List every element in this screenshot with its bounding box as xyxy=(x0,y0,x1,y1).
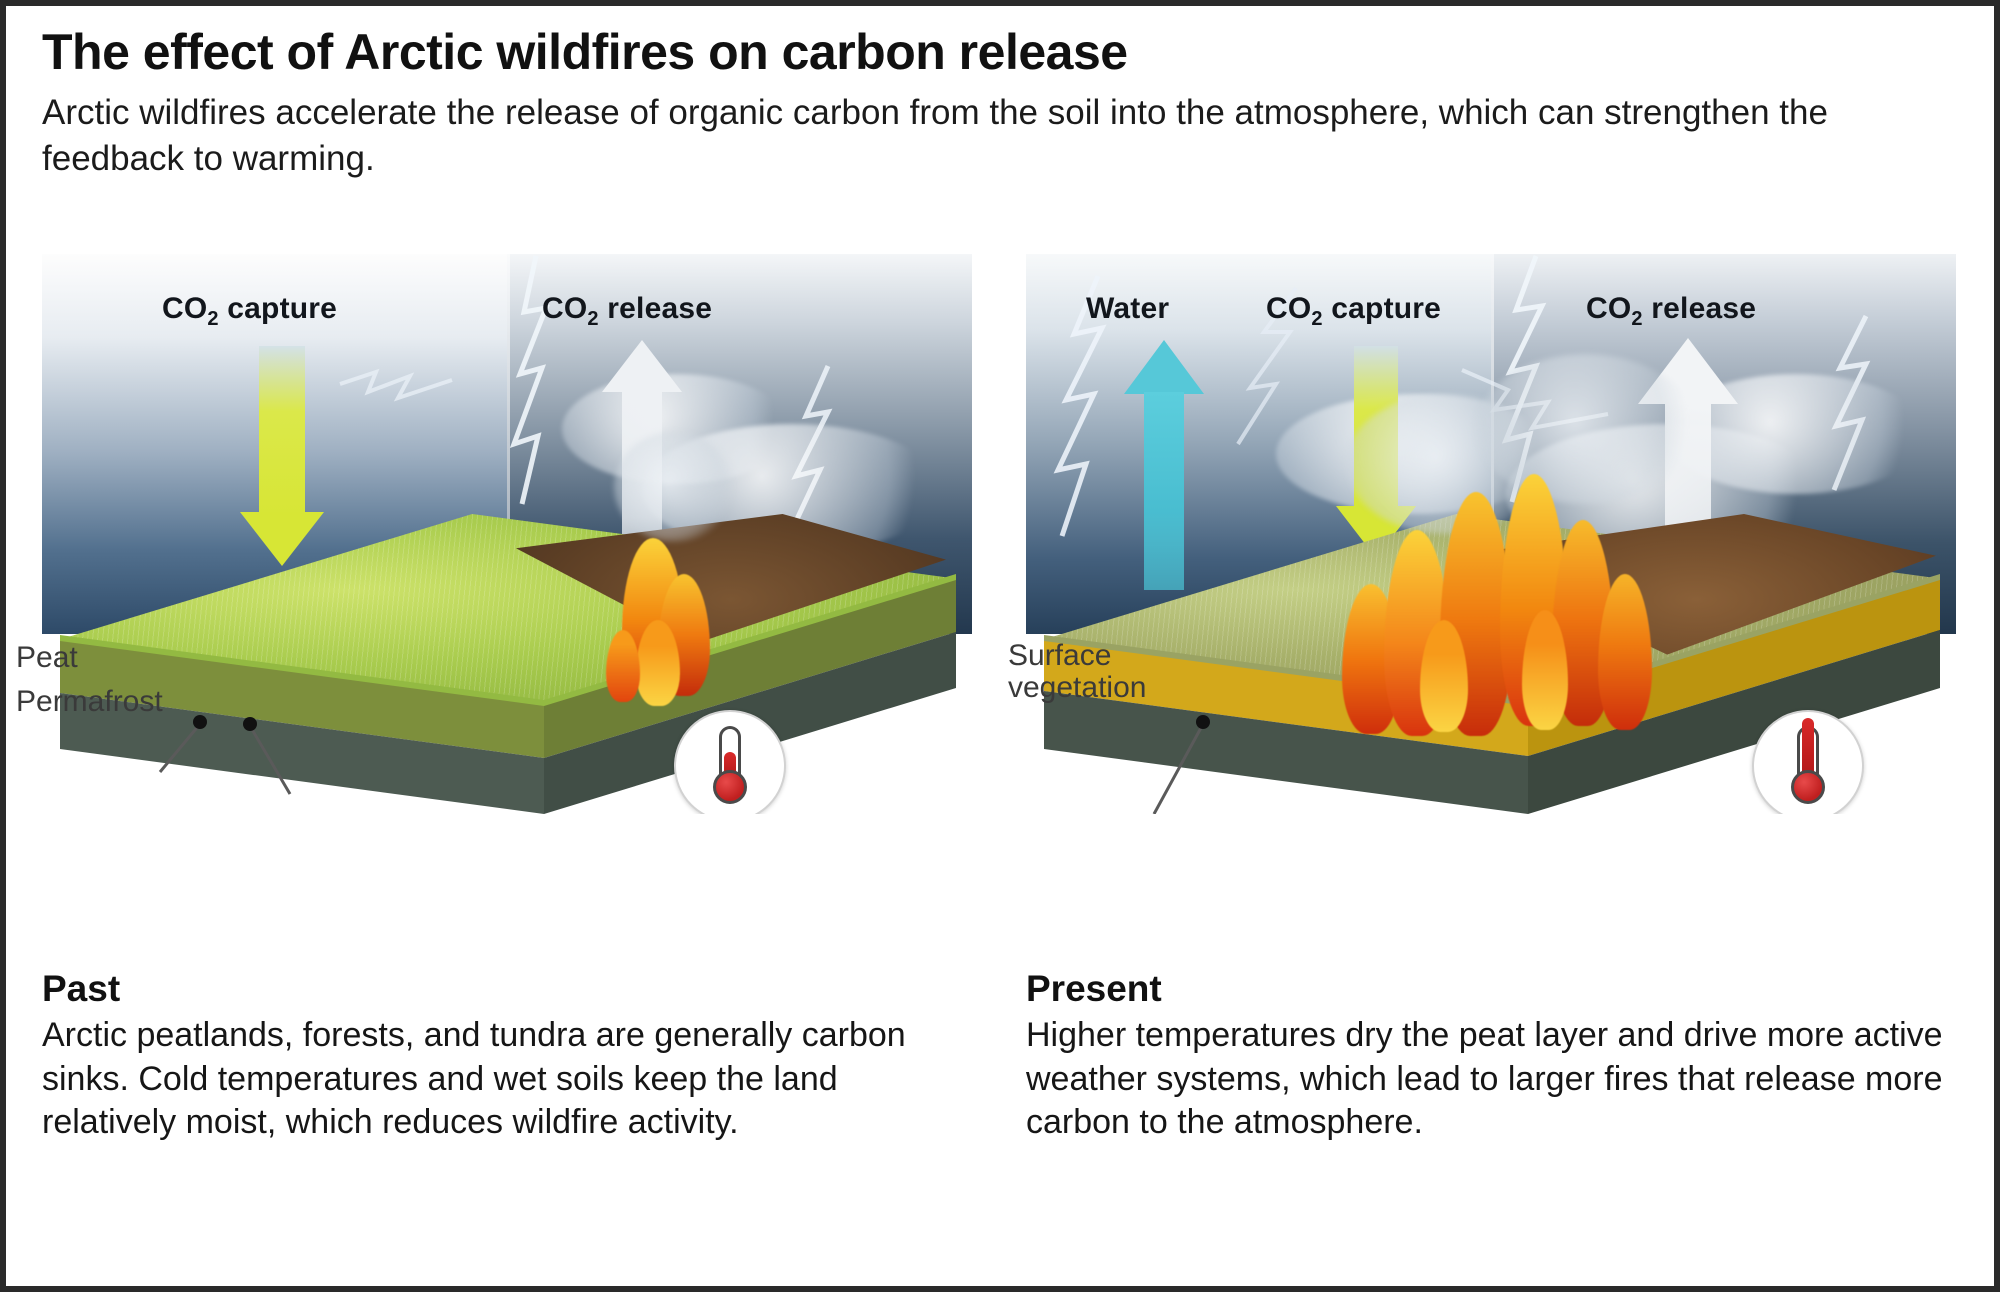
page-subtitle: Arctic wildfires accelerate the release … xyxy=(42,90,1972,182)
label-text: CO xyxy=(1586,292,1631,325)
label-text: CO xyxy=(1266,292,1311,325)
header: The effect of Arctic wildfires on carbon… xyxy=(42,24,1972,182)
label-co2-capture-present: CO2 capture xyxy=(1266,292,1441,331)
callout-dot-permafrost xyxy=(243,717,257,731)
caption-heading-present: Present xyxy=(1026,968,1956,1010)
callout-dot-peat xyxy=(193,715,207,729)
callout-peat-past: Peat xyxy=(16,642,78,674)
infographic-root: The effect of Arctic wildfires on carbon… xyxy=(0,0,2000,1292)
caption-past: Past Arctic peatlands, forests, and tund… xyxy=(42,968,972,1145)
callout-dot-surface-vegetation xyxy=(1196,715,1210,729)
ground-block-past xyxy=(42,514,972,814)
label-text-rest: capture xyxy=(1323,292,1441,325)
scene-present: Water CO2 capture CO2 release xyxy=(1026,254,1956,814)
scene-past: CO2 capture CO2 release xyxy=(42,254,972,814)
caption-body-present: Higher temperatures dry the peat layer a… xyxy=(1026,1014,1956,1145)
smoke xyxy=(1476,354,1696,504)
lightning-icon xyxy=(332,314,462,454)
label-co2-capture-past: CO2 capture xyxy=(162,292,337,331)
caption-heading-past: Past xyxy=(42,968,972,1010)
caption-present: Present Higher temperatures dry the peat… xyxy=(1026,968,1956,1145)
label-subscript: 2 xyxy=(1311,308,1322,330)
label-subscript: 2 xyxy=(1631,308,1642,330)
thermometer-bulb xyxy=(713,770,747,804)
soil-cross-section xyxy=(42,514,972,814)
callout-permafrost-past: Permafrost xyxy=(16,686,163,718)
smoke xyxy=(614,432,734,542)
label-water-present: Water xyxy=(1086,292,1169,326)
label-text-rest: release xyxy=(599,292,712,325)
label-text: CO xyxy=(162,292,207,325)
label-co2-release-past: CO2 release xyxy=(542,292,712,331)
flame xyxy=(1598,574,1652,730)
illustration-panels: CO2 capture CO2 release xyxy=(6,254,1994,954)
label-subscript: 2 xyxy=(587,308,598,330)
callout-surface-vegetation-present: Surface vegetation xyxy=(1008,640,1146,703)
page-title: The effect of Arctic wildfires on carbon… xyxy=(42,24,1972,80)
label-co2-release-present: CO2 release xyxy=(1586,292,1756,331)
caption-body-past: Arctic peatlands, forests, and tundra ar… xyxy=(42,1014,972,1145)
label-text-rest: capture xyxy=(219,292,337,325)
thermometer-badge-present xyxy=(1752,710,1864,814)
label-text-rest: release xyxy=(1643,292,1756,325)
panel-past: CO2 capture CO2 release xyxy=(42,254,972,954)
label-text: CO xyxy=(542,292,587,325)
fire-group-present xyxy=(1336,434,1676,764)
label-subscript: 2 xyxy=(207,308,218,330)
thermometer-bulb xyxy=(1791,770,1825,804)
panel-present: Water CO2 capture CO2 release xyxy=(1026,254,1956,954)
fire-group-past xyxy=(602,512,742,742)
